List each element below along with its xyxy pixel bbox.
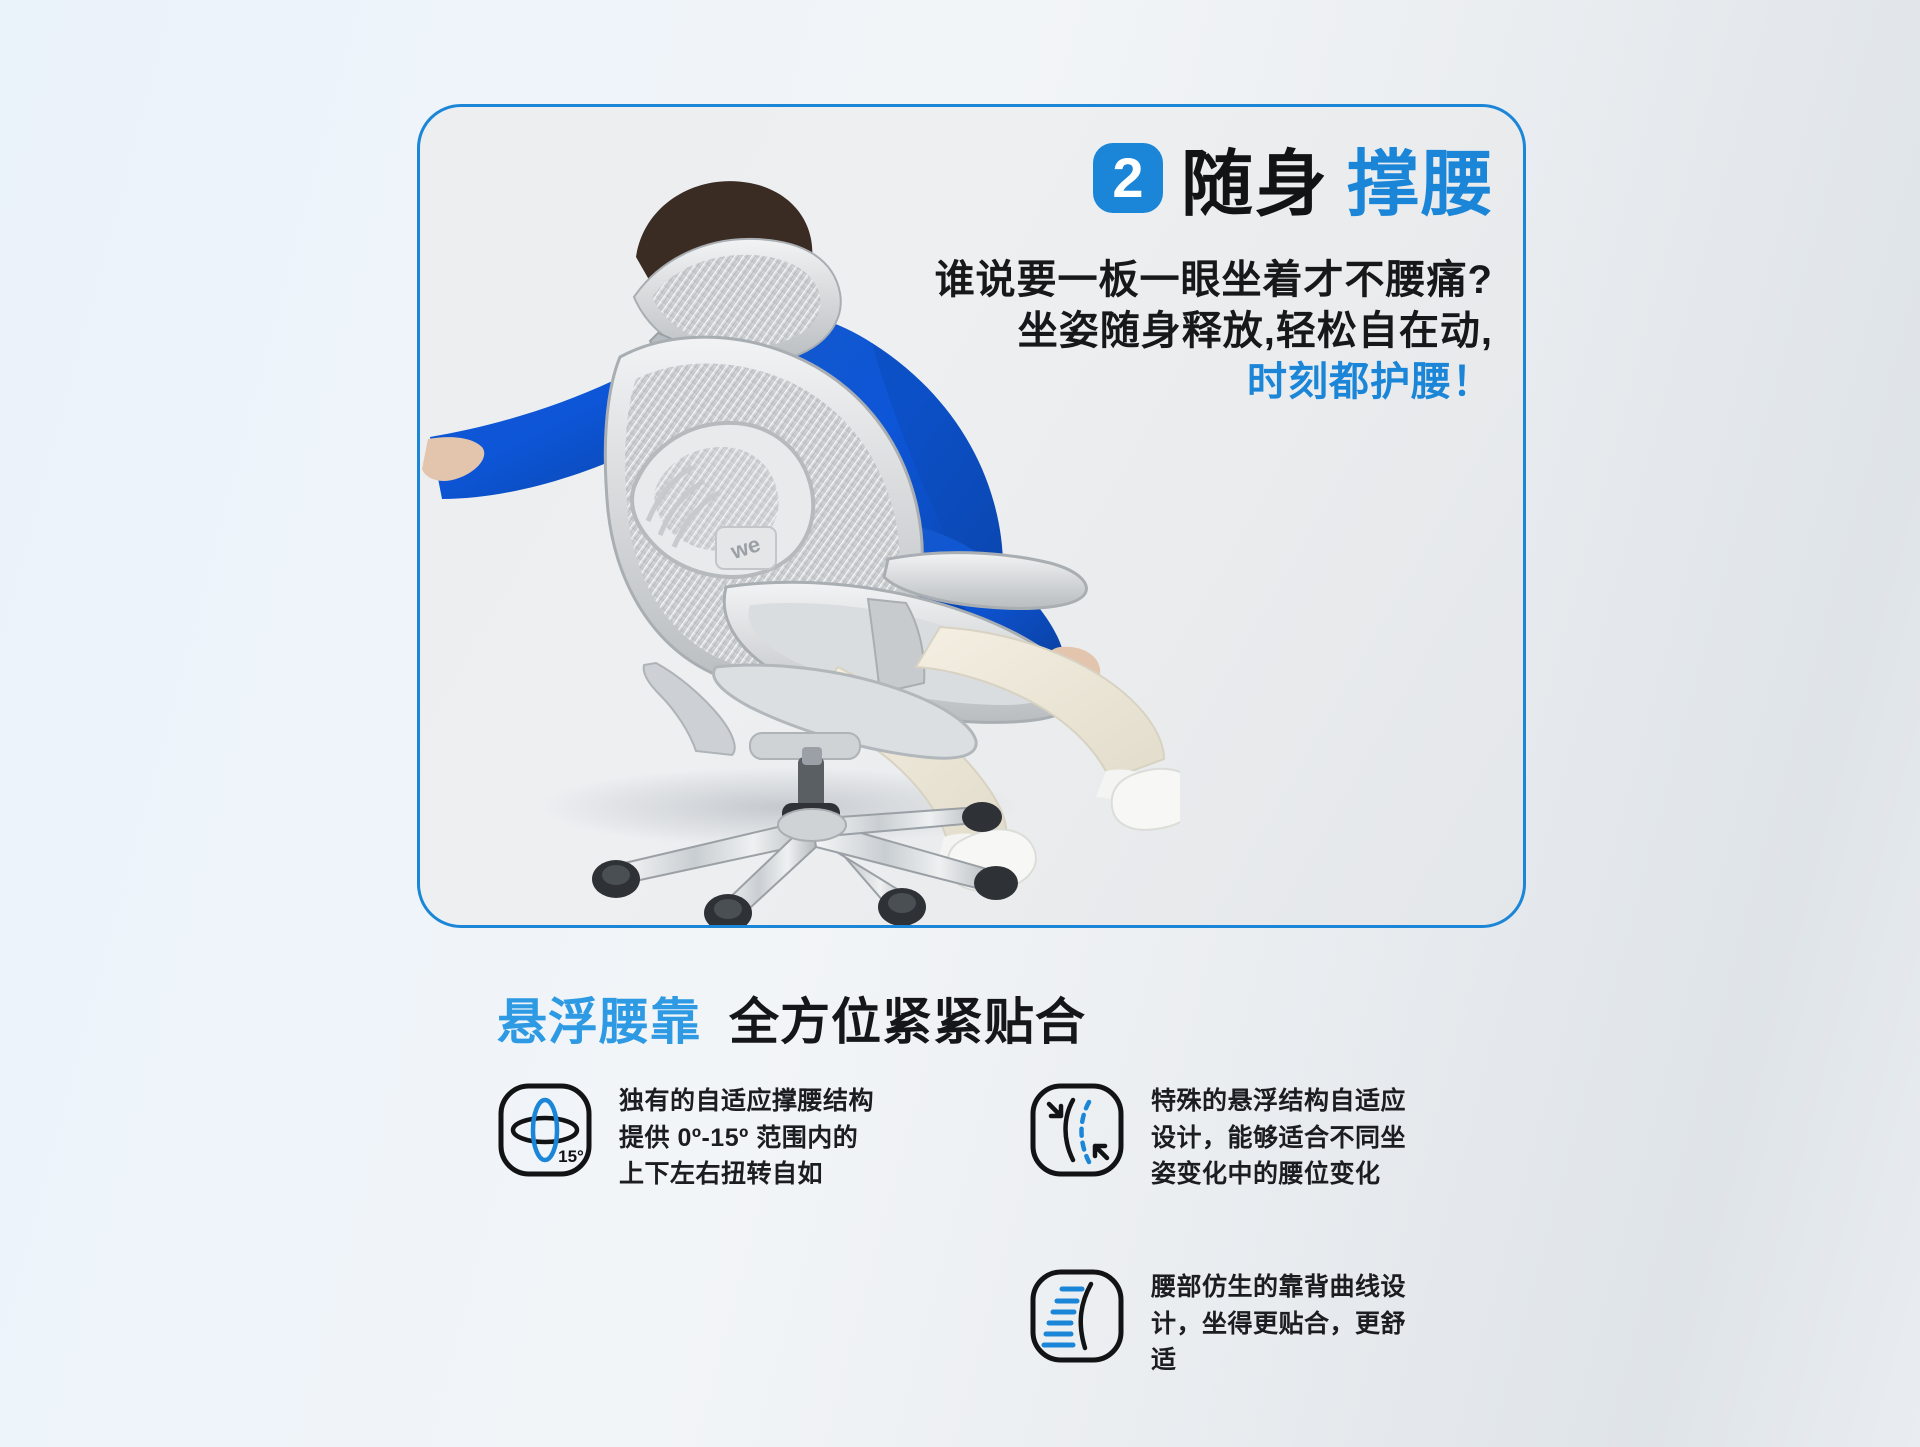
- headline-dark-text: 随身: [1181, 125, 1329, 230]
- section-heading: 悬浮腰靠 全方位紧紧贴合: [497, 982, 1086, 1054]
- hero-card: we: [417, 104, 1526, 928]
- headline-blue-text: 撑腰: [1347, 125, 1495, 230]
- rotation-angle-label: 15°: [558, 1147, 584, 1166]
- hero-headline: 2 随身撑腰: [1093, 125, 1495, 230]
- feature-2-line-2: 设计，能够适合不同坐: [1151, 1120, 1406, 1157]
- feature-item-rotation: 15° 独有的自适应撑腰结构 提供 0º-15º 范围内的 上下左右扭转自如: [497, 1082, 927, 1193]
- feature-1-line-3: 上下左右扭转自如: [619, 1156, 874, 1193]
- feature-1-line-2: 提供 0º-15º 范围内的: [619, 1120, 874, 1157]
- rotation-axes-icon: 15°: [497, 1082, 593, 1178]
- spine-curve-icon: [1029, 1268, 1125, 1364]
- subtitle-line-2: 坐姿随身释放,轻松自在动,: [935, 306, 1493, 357]
- section-heading-dark: 全方位紧紧贴合: [729, 982, 1086, 1054]
- feature-3-line-1: 腰部仿生的靠背曲线设: [1151, 1269, 1406, 1306]
- feature-3-line-2: 计，坐得更贴合，更舒: [1151, 1306, 1406, 1343]
- product-detail-page: we: [0, 0, 1920, 1447]
- subtitle-line-3: 时刻都护腰！: [935, 357, 1493, 408]
- feature-3-line-3: 适: [1151, 1342, 1406, 1379]
- subtitle-line-1: 谁说要一板一眼坐着才不腰痛?: [935, 255, 1493, 306]
- feature-text-rotation: 独有的自适应撑腰结构 提供 0º-15º 范围内的 上下左右扭转自如: [619, 1082, 874, 1193]
- product-photo: we: [420, 107, 1180, 925]
- floating-curve-arrows-icon: [1029, 1082, 1125, 1178]
- feature-item-spine: 腰部仿生的靠背曲线设 计，坐得更贴合，更舒 适: [1029, 1268, 1459, 1379]
- feature-text-floating: 特殊的悬浮结构自适应 设计，能够适合不同坐 姿变化中的腰位变化: [1151, 1082, 1406, 1193]
- feature-text-spine: 腰部仿生的靠背曲线设 计，坐得更贴合，更舒 适: [1151, 1268, 1406, 1379]
- feature-item-floating: 特殊的悬浮结构自适应 设计，能够适合不同坐 姿变化中的腰位变化: [1029, 1082, 1459, 1193]
- step-number-badge: 2: [1093, 143, 1163, 213]
- hero-subtitle-block: 谁说要一板一眼坐着才不腰痛? 坐姿随身释放,轻松自在动, 时刻都护腰！: [935, 255, 1493, 409]
- section-heading-blue: 悬浮腰靠: [497, 982, 701, 1054]
- feature-2-line-3: 姿变化中的腰位变化: [1151, 1156, 1406, 1193]
- feature-1-line-1: 独有的自适应撑腰结构: [619, 1083, 874, 1120]
- feature-2-line-1: 特殊的悬浮结构自适应: [1151, 1083, 1406, 1120]
- hero-card-inner: we: [420, 107, 1523, 925]
